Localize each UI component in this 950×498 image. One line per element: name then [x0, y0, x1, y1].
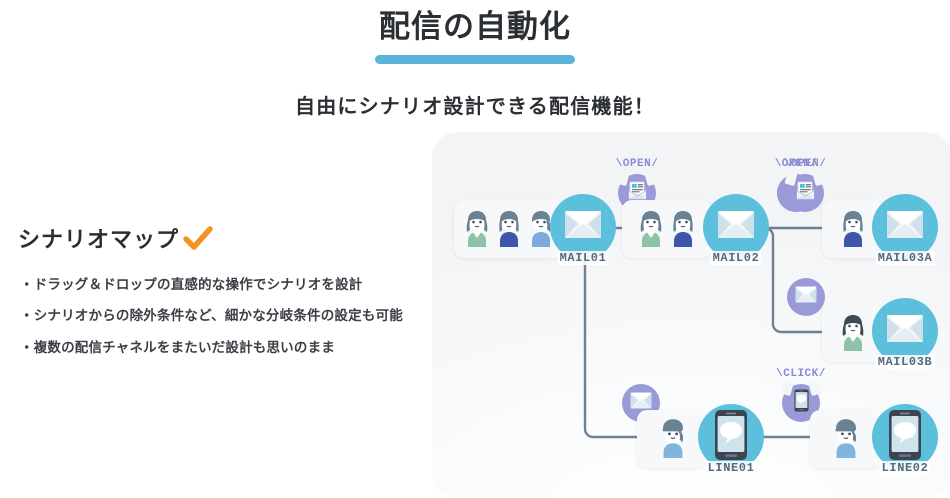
person-cap-blue-icon [657, 416, 689, 463]
person-navy-icon [494, 207, 524, 252]
node-label: MAIL02 [711, 251, 762, 265]
channel-node-mail03b[interactable]: MAIL03B [872, 298, 938, 364]
person-cap-blue-icon [830, 416, 862, 463]
title-underline [375, 55, 575, 64]
channel-node-line02[interactable]: LINE02 [872, 404, 938, 470]
node-label: MAIL03B [876, 355, 935, 369]
smartphone-icon [714, 409, 748, 466]
badge-label: \OPEN/ [784, 158, 827, 170]
mail-icon [886, 314, 924, 348]
panel-heading: シナリオマップ [18, 222, 418, 254]
list-item: ・複数の配信チャネルをまたいだ設計も思いのまま [18, 335, 418, 361]
notch-left [780, 381, 793, 396]
person-navy-icon [838, 207, 868, 252]
channel-node-mail03a[interactable]: MAIL03A [872, 194, 938, 260]
badge-label: \CLICK/ [776, 368, 826, 380]
badge-label: \OPEN/ [616, 158, 659, 170]
audience-card-mail01[interactable] [454, 200, 564, 258]
page-subtitle: 自由にシナリオ設計できる配信機能！ [0, 90, 950, 119]
audience-card-mail02[interactable] [622, 200, 712, 258]
person-navy-icon [668, 207, 698, 252]
person-green-icon [838, 311, 868, 356]
list-item: ・シナリオからの除外条件など、細かな分岐条件の設定も可能 [18, 303, 418, 329]
mail-icon [886, 210, 924, 244]
channel-node-line01[interactable]: LINE01 [698, 404, 764, 470]
node-label: LINE01 [706, 461, 757, 475]
page-header: 配信の自動化 自由にシナリオ設計できる配信機能！ [0, 0, 950, 119]
smartphone-icon [888, 409, 922, 466]
badge-open-mail03a-visual[interactable]: \OPEN/ [786, 174, 824, 212]
mail-icon [564, 210, 602, 244]
scenario-map-diagram: \OPEN/ [432, 132, 950, 498]
node-label: MAIL03A [876, 251, 935, 265]
feature-bullet-list: ・ドラッグ＆ドロップの直感的な操作でシナリオを設計 ・シナリオからの除外条件など… [18, 272, 418, 361]
mail-icon [795, 286, 817, 308]
channel-node-mail01[interactable]: MAIL01 [550, 194, 616, 260]
page-title: 配信の自動化 [0, 0, 950, 47]
badge-mail-mail03b[interactable] [787, 278, 825, 316]
opened-mail-icon [794, 179, 817, 207]
scenario-map-panel: シナリオマップ ・ドラッグ＆ドロップの直感的な操作でシナリオを設計 ・シナリオか… [18, 222, 418, 366]
node-label: MAIL01 [558, 251, 609, 265]
orange-check-icon [183, 225, 213, 251]
list-item: ・ドラッグ＆ドロップの直感的な操作でシナリオを設計 [18, 272, 418, 298]
mail-icon [717, 210, 755, 244]
channel-node-mail02[interactable]: MAIL02 [703, 194, 769, 260]
smartphone-icon [794, 389, 809, 417]
person-green-icon [462, 207, 492, 252]
person-green-icon [636, 207, 666, 252]
node-label: LINE02 [880, 461, 931, 475]
panel-heading-label: シナリオマップ [18, 222, 179, 254]
